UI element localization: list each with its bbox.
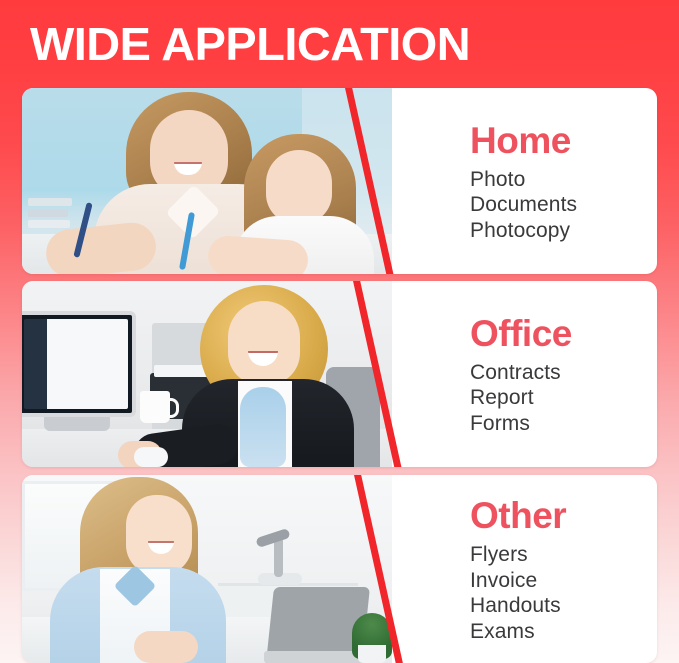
application-card-other[interactable]: Other Flyers Invoice Handouts Exams [22, 475, 657, 663]
office-person-face [228, 301, 300, 385]
header-banner: WIDE APPLICATION [0, 0, 679, 88]
list-item: Photo [470, 167, 657, 193]
list-item: Report [470, 385, 657, 411]
other-microscope-icon [255, 528, 290, 548]
office-person-bow [240, 387, 286, 467]
card-list-home: Photo Documents Photocopy [470, 167, 657, 244]
card-photo-office [22, 281, 392, 467]
office-monitor-screen [24, 319, 128, 409]
other-scene-illustration [22, 475, 392, 663]
card-heading-other: Other [470, 494, 657, 538]
list-item: Contracts [470, 360, 657, 386]
card-text-office: Office Contracts Report Forms [442, 281, 657, 467]
card-text-other: Other Flyers Invoice Handouts Exams [442, 475, 657, 663]
application-card-home[interactable]: Home Photo Documents Photocopy [22, 88, 657, 274]
office-scene-illustration [22, 281, 392, 467]
office-mug-icon [140, 391, 170, 423]
card-heading-home: Home [470, 119, 657, 163]
list-item: Photocopy [470, 218, 657, 244]
page-title: WIDE APPLICATION [30, 17, 470, 71]
card-photo-other [22, 475, 392, 663]
application-card-office[interactable]: Office Contracts Report Forms [22, 281, 657, 467]
office-mouse-icon [134, 447, 168, 467]
wide-application-infographic: WIDE APPLICATION [0, 0, 679, 663]
list-item: Handouts [470, 593, 657, 619]
home-child-face [266, 150, 332, 224]
card-heading-office: Office [470, 312, 657, 356]
list-item: Forms [470, 411, 657, 437]
card-photo-home [22, 88, 392, 274]
office-monitor-icon [22, 311, 136, 417]
other-person-face [126, 495, 192, 575]
list-item: Flyers [470, 542, 657, 568]
card-list-office: Contracts Report Forms [470, 360, 657, 437]
list-item: Exams [470, 619, 657, 645]
card-list-other: Flyers Invoice Handouts Exams [470, 542, 657, 644]
other-plant-pot [358, 645, 386, 663]
other-microscope-stand [274, 537, 283, 577]
home-scene-illustration [22, 88, 392, 274]
card-text-home: Home Photo Documents Photocopy [442, 88, 657, 274]
office-monitor-stand [44, 417, 110, 431]
list-item: Documents [470, 192, 657, 218]
home-child-arm [207, 235, 310, 274]
list-item: Invoice [470, 568, 657, 594]
other-person-hands [134, 631, 198, 663]
